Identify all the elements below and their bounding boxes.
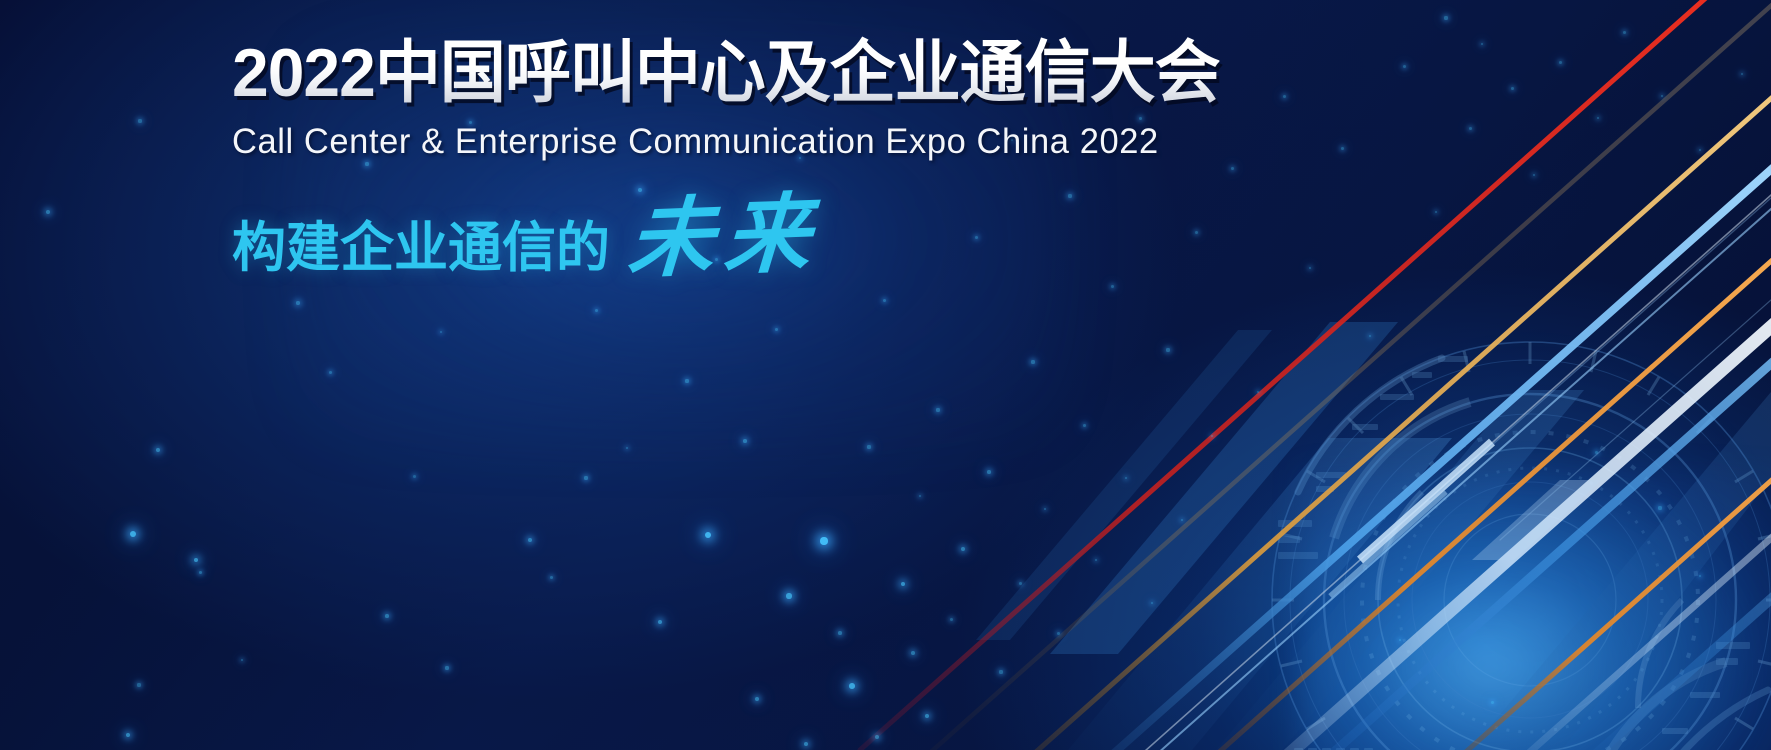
page-subtitle: Call Center & Enterprise Communication E… (232, 122, 1235, 162)
tagline: 构建企业通信的 未来 (232, 206, 1250, 279)
tagline-accent-text: 未来 (626, 203, 822, 272)
headline-group: 2022中国呼叫中心及企业通信大会 Call Center & Enterpri… (232, 34, 1250, 279)
page-title: 2022中国呼叫中心及企业通信大会 (232, 34, 1220, 112)
event-banner: 2022中国呼叫中心及企业通信大会 Call Center & Enterpri… (0, 0, 1771, 750)
tagline-lead-text: 构建企业通信的 (232, 217, 610, 279)
